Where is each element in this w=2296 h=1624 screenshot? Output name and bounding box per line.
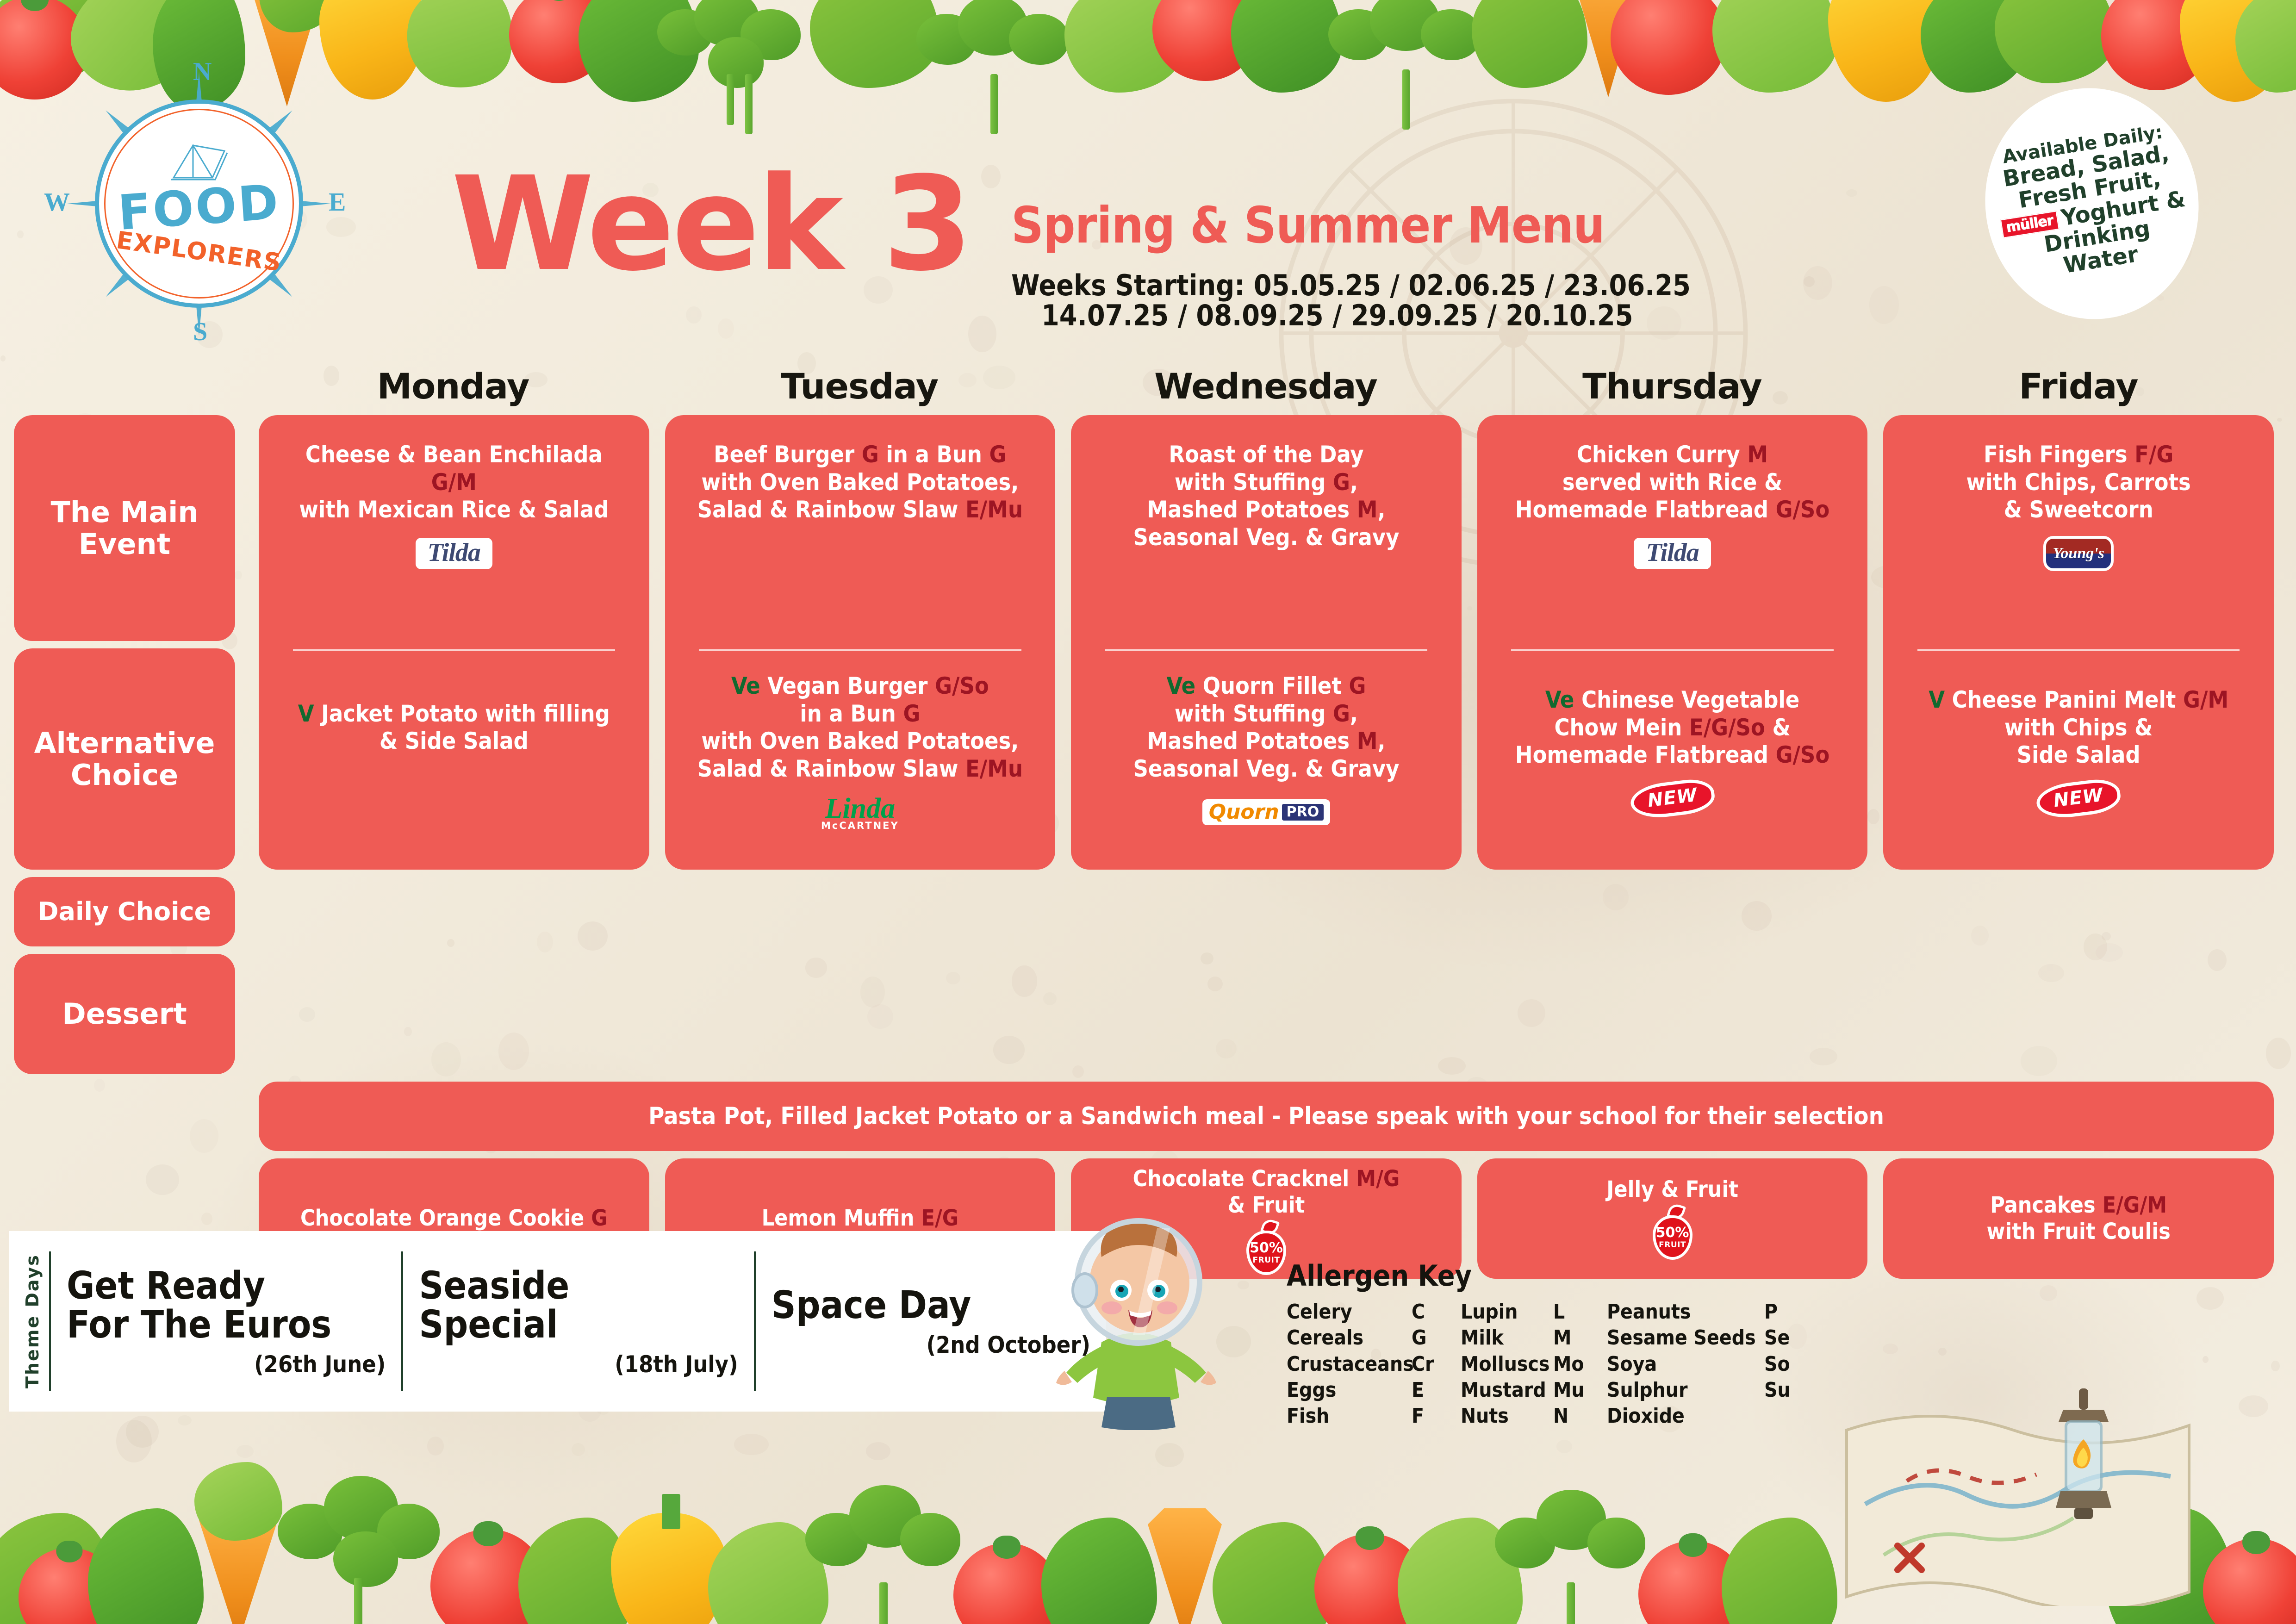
menu-card-thursday[interactable]: Chicken Curry Mserved with Rice &Homemad… [1477,415,1868,870]
day-column-wednesday: Roast of the Daywith Stuffing G,Mashed P… [1071,415,1462,1074]
allergen-name: Lupin [1461,1299,1553,1325]
main-event-cell-monday: Cheese & Bean EnchiladaG/Mwith Mexican R… [271,429,637,647]
veg-flag: V [1929,686,1952,713]
dish-line: Chocolate Orange Cookie G [300,1205,608,1232]
fruit-badge-percent: 50% [1250,1241,1283,1255]
linda-mccartney-logo: LindaMcCARTNEY [821,791,899,834]
dish-line: with Chips, Carrots [1966,469,2191,497]
paper-texture-speck [2196,1287,2224,1310]
allergen-code-key: L [1553,1299,1590,1325]
allergen-code: G [903,700,920,727]
menu-card-wednesday[interactable]: Roast of the Daywith Stuffing G,Mashed P… [1071,415,1462,870]
allergen-row: NutsN [1461,1403,1590,1429]
page-title: Week 3 [451,160,970,289]
alternative-choice-cell-thursday: Ve Chinese VegetableChow Mein E/G/So &Ho… [1489,651,1856,856]
allergen-row: Sulphur DioxideSu [1607,1377,1797,1430]
allergen-code-key: F [1412,1403,1444,1429]
allergen-code: M/G [1356,1166,1400,1192]
dish-text: , [1378,728,1386,754]
paper-texture-speck [1803,266,1832,299]
main-event-cell-thursday: Chicken Curry Mserved with Rice &Homemad… [1489,429,1856,647]
dish-text: Fish Fingers [1984,441,2134,468]
allergen-code-key: N [1553,1403,1590,1429]
menu-grid: Monday Tuesday Wednesday Thursday Friday… [14,366,2282,1279]
row-label-alternative: Alternative Choice [14,648,235,870]
dish-text: Salad & Rainbow Slaw [697,496,965,523]
allergen-code: G/So [935,672,989,699]
dish-line: Roast of the Day [1169,441,1363,469]
allergen-code-key: P [1764,1299,1797,1325]
quorn-logo-pro: PRO [1282,804,1324,821]
day-column-friday: Fish Fingers F/Gwith Chips, Carrots& Swe… [1883,415,2274,1074]
dish-line: Homemade Flatbread G/So [1515,741,1829,769]
allergen-code: G [862,441,879,468]
dish-line: with Mexican Rice & Salad [299,496,609,524]
allergen-row: Sesame SeedsSe [1607,1325,1797,1351]
compass-label-s: S [193,317,207,347]
dish-text: Chinese Vegetable [1581,686,1799,713]
dish-line: Ve Vegan Burger G/So [731,672,989,700]
veg-flag: V [298,700,321,727]
allergen-column-2: LupinLMilkMMolluscsMoMustardMuNutsN [1461,1299,1590,1430]
food-explorers-logo: N S W E FOOD EXPLORERS [95,100,303,308]
dish-text: , [1350,700,1358,727]
dish-text: served with Rice & [1562,469,1782,496]
fifty-percent-fruit-badge: 50%FRUIT [1244,1219,1289,1271]
day-header-friday: Friday [1883,366,2274,407]
dish-line: & Fruit [1228,1192,1305,1219]
paper-texture-speck [1846,189,1857,197]
allergen-code: G [1349,672,1366,699]
allergen-code: G [1333,700,1350,727]
fruit-badge-label: FRUIT [1253,1257,1280,1264]
compass-label-e: E [329,187,346,217]
fifty-percent-fruit-badge: 50%FRUIT [1650,1203,1695,1261]
quorn-logo-block: QuornPRO [1202,799,1331,825]
dish-text: in a Bun [800,700,903,727]
paper-texture-speck [866,1442,890,1460]
linda-logo-bottom: McCARTNEY [821,821,899,831]
daily-choice-row: Pasta Pot, Filled Jacket Potato or a San… [14,1082,2282,1151]
theme-days-panel: Theme Days Get ReadyFor The Euros (26th … [9,1231,1106,1412]
dish-text: with Stuffing [1175,469,1333,496]
allergen-row: MilkM [1461,1325,1590,1351]
dessert-cell-friday[interactable]: Pancakes E/G/Mwith Fruit Coulis [1883,1158,2274,1279]
allergen-key: Allergen Key CeleryCCerealsGCrustaceansC… [1287,1259,1833,1430]
allergen-name: Molluscs [1461,1351,1553,1377]
dish-text: Roast of the Day [1169,441,1363,468]
day-header-tuesday: Tuesday [664,366,1055,407]
allergen-code-key: E [1412,1377,1444,1403]
paper-texture-speck [2239,1395,2268,1417]
dish-text: with Oven Baked Potatoes, [701,728,1019,754]
dish-line: Salad & Rainbow Slaw E/Mu [697,496,1023,524]
dish-line: with Oven Baked Potatoes, [701,728,1019,755]
fruit-badge-label: FRUIT [1659,1241,1686,1249]
allergen-code: E/G [921,1205,959,1231]
paper-texture-speck [1238,1281,1249,1289]
allergen-code: M [1357,496,1378,523]
dish-text: Side Salad [2017,741,2140,768]
apple-icon: 50%FRUIT [1246,1231,1286,1275]
allergen-code: E/G/M [2103,1192,2167,1218]
dish-text: in a Bun [879,441,989,468]
paper-texture-speck [178,1415,192,1425]
paper-texture-speck [0,355,6,362]
day-header-thursday: Thursday [1477,366,1867,407]
allergen-row: CeleryC [1287,1299,1444,1325]
theme-days-vertical-label: Theme Days [16,1238,49,1405]
allergen-code-key: Se [1764,1325,1797,1351]
row-label-main-event: The Main Event [14,415,235,641]
dish-text: , [1350,469,1358,496]
dish-text: Lemon Muffin [762,1205,921,1231]
theme-day-space-date: (2nd October) [772,1332,1090,1358]
allergen-name: Fish [1287,1403,1412,1429]
dish-line: Seasonal Veg. & Gravy [1133,524,1400,552]
allergen-code: E/G/So [1689,714,1765,741]
dish-line: Homemade Flatbread G/So [1515,496,1829,524]
dish-line: Beef Burger G in a Bun G [714,441,1006,469]
allergen-code-key: Su [1764,1377,1797,1430]
allergen-column-1: CeleryCCerealsGCrustaceansCrEggsEFishF [1287,1299,1444,1430]
dish-text: Vegan Burger [767,672,935,699]
new-badge-label: NEW [1629,777,1717,821]
dish-line: Fish Fingers F/G [1984,441,2173,469]
menu-body: The Main Event Alternative Choice Daily … [14,415,2282,1074]
dish-line: G/M [431,469,477,497]
allergen-column-3: PeanutsPSesame SeedsSeSoyaSoSulphur Diox… [1607,1299,1797,1430]
day-column-tuesday: Beef Burger G in a Bun Gwith Oven Baked … [665,415,1056,1074]
allergen-name: Peanuts [1607,1299,1764,1325]
dish-text: Chocolate Orange Cookie [300,1205,591,1231]
dish-text: Homemade Flatbread [1515,741,1776,768]
dish-text: Chocolate Cracknel [1133,1166,1356,1192]
paper-texture-speck [236,1445,254,1458]
main-event-cell-friday: Fish Fingers F/Gwith Chips, Carrots& Swe… [1895,429,2262,647]
dish-text: & Sweetcorn [2004,496,2153,523]
dish-text: Beef Burger [714,441,862,468]
dish-line: Chocolate Cracknel M/G [1133,1166,1400,1192]
menu-card-tuesday[interactable]: Beef Burger G in a Bun Gwith Oven Baked … [665,415,1056,870]
theme-day-euros: Get ReadyFor The Euros (26th June) [51,1238,401,1405]
map-lantern-illustration [1833,1365,2203,1606]
dish-text: Seasonal Veg. & Gravy [1133,755,1400,782]
dish-line: with Stuffing G, [1175,469,1358,497]
paper-texture-speck [2040,1285,2057,1301]
tilda-logo-text: Tilda [416,538,492,569]
alternative-choice-cell-monday: V Jacket Potato with filling& Side Salad [271,651,637,856]
dish-line: Pancakes E/G/M [1990,1192,2167,1219]
weeks-starting-line-1: Weeks Starting: 05.05.25 / 02.06.25 / 23… [1011,268,1691,302]
tilda-logo: Tilda [1634,532,1711,575]
veg-flag: Ve [1167,672,1203,699]
paper-texture-speck [1556,1440,1572,1453]
allergen-code: G [989,441,1007,468]
paper-texture-speck [718,318,734,338]
allergen-code: E/Mu [965,755,1023,782]
dish-line: Seasonal Veg. & Gravy [1133,755,1400,783]
dish-text: Homemade Flatbread [1515,496,1776,523]
dish-text: & Side Salad [380,728,529,754]
season-subtitle: Spring & Summer Menu [1011,197,1605,255]
paper-texture-speck [2203,1356,2209,1363]
paper-texture-speck [1869,286,1899,324]
theme-day-seaside: SeasideSpecial (18th July) [403,1238,753,1405]
allergen-code: M [1357,728,1378,754]
dish-text: with Stuffing [1175,700,1333,727]
fruit-badge-percent: 50% [1656,1226,1689,1240]
dish-line: & Sweetcorn [2004,496,2153,524]
allergen-code-key: G [1412,1325,1444,1351]
allergen-code-key: M [1553,1325,1590,1351]
weeks-starting-line-2: 14.07.25 / 08.09.25 / 29.09.25 / 20.10.2… [1041,299,1633,332]
allergen-row: MolluscsMo [1461,1351,1590,1377]
dish-line: Chow Mein E/G/So & [1554,714,1790,742]
dish-line: Ve Chinese Vegetable [1545,686,1800,714]
dish-line: Salad & Rainbow Slaw E/Mu [697,755,1023,783]
dish-text: Quorn Fillet [1203,672,1349,699]
allergen-code: F/G [2134,441,2173,468]
allergen-name: Nuts [1461,1403,1553,1429]
day-column-thursday: Chicken Curry Mserved with Rice &Homemad… [1477,415,1868,1074]
dish-text: Seasonal Veg. & Gravy [1133,524,1400,551]
allergen-code-key: Cr [1412,1351,1444,1377]
dish-text: Jelly & Fruit [1606,1176,1738,1202]
allergen-code: G/M [2183,686,2228,713]
allergen-row: PeanutsP [1607,1299,1797,1325]
allergen-name: Sesame Seeds [1607,1325,1764,1351]
dish-line: served with Rice & [1562,469,1782,497]
theme-day-euros-name: Get ReadyFor The Euros [67,1267,386,1344]
paper-texture-speck [1938,1348,1947,1356]
main-event-cell-tuesday: Beef Burger G in a Bun Gwith Oven Baked … [677,429,1044,647]
dish-line: Lemon Muffin E/G [762,1205,959,1232]
allergen-code: G/M [431,469,477,496]
allergen-code: G/So [1776,741,1830,768]
tilda-logo: Tilda [416,532,492,575]
dish-text: Mashed Potatoes [1147,496,1356,523]
dish-text: Cheese & Bean Enchilada [305,441,603,468]
allergen-row: EggsE [1287,1377,1444,1403]
allergen-row: SoyaSo [1607,1351,1797,1377]
allergen-code-key: Mo [1553,1351,1590,1377]
dish-text: with Chips & [2004,714,2153,741]
dish-text: Chicken Curry [1577,441,1747,468]
allergen-row: FishF [1287,1403,1444,1429]
youngs-logo: Young's [2043,532,2114,575]
paper-texture-speck [981,165,1001,189]
dish-line: V Jacket Potato with filling [298,700,610,728]
dish-line: & Side Salad [380,728,529,755]
alternative-choice-cell-wednesday: Ve Quorn Fillet Gwith Stuffing G,Mashed … [1083,651,1450,856]
theme-day-seaside-name: SeasideSpecial [419,1267,738,1344]
dish-text: Jacket Potato with filling [321,700,610,727]
day-header-row: Monday Tuesday Wednesday Thursday Friday [14,366,2282,407]
linda-logo-block: LindaMcCARTNEY [821,794,899,831]
row-label-daily-choice: Daily Choice [14,877,235,946]
alternative-choice-cell-friday: V Cheese Panini Melt G/Mwith Chips &Side… [1895,651,2262,856]
dish-text: & Fruit [1228,1192,1305,1218]
allergen-code: G [1333,469,1350,496]
dish-line: with Chips & [2004,714,2153,742]
allergen-row: MustardMu [1461,1377,1590,1403]
allergen-name: Eggs [1287,1377,1412,1403]
allergen-name: Crustaceans [1287,1351,1412,1377]
dish-text: with Mexican Rice & Salad [299,496,609,523]
allergen-name: Cereals [1287,1325,1412,1351]
dish-line: Chicken Curry M [1577,441,1768,469]
main-event-cell-wednesday: Roast of the Daywith Stuffing G,Mashed P… [1083,429,1450,647]
dish-text: , [1378,496,1386,523]
paper-texture-speck [1155,1443,1184,1468]
allergen-name: Sulphur Dioxide [1607,1377,1764,1430]
quorn-pro-logo: QuornPRO [1202,791,1331,834]
paper-texture-speck [116,1420,152,1462]
dish-text: with Chips, Carrots [1966,469,2191,496]
dish-line: Mashed Potatoes M, [1147,496,1385,524]
allergen-code-key: C [1412,1299,1444,1325]
paper-texture-speck [1883,1344,1898,1354]
paper-texture-speck [686,306,701,324]
paper-texture-speck [572,1443,585,1456]
allergen-code-key: Mu [1553,1377,1590,1403]
dish-line: Ve Quorn Fillet G [1167,672,1366,700]
apple-icon: 50%FRUIT [1653,1215,1692,1260]
dish-line: with Oven Baked Potatoes, [701,469,1019,497]
youngs-logo-badge: Young's [2043,536,2114,571]
theme-day-euros-date: (26th June) [67,1351,386,1378]
allergen-code: G [591,1205,607,1231]
dish-line: Side Salad [2017,741,2140,769]
allergen-name: Celery [1287,1299,1412,1325]
day-header-monday: Monday [258,366,648,407]
veg-flag: Ve [1545,686,1581,713]
paper-texture-speck [2271,1361,2280,1372]
veg-flag: Ve [731,672,767,699]
tent-icon [164,139,234,183]
paper-texture-speck [734,1434,769,1455]
quorn-logo-word: Quorn [1209,802,1279,822]
allergen-code: M [1747,441,1768,468]
allergen-name: Soya [1607,1351,1764,1377]
paper-texture-speck [1647,306,1681,340]
row-label-dessert: Dessert [14,954,235,1074]
dish-text: Chow Mein [1554,714,1689,741]
dish-text: Cheese Panini Melt [1952,686,2183,713]
dish-line: V Cheese Panini Melt G/M [1929,686,2228,714]
daily-choice-bar: Pasta Pot, Filled Jacket Potato or a San… [259,1082,2274,1151]
allergen-code-key: So [1764,1351,1797,1377]
youngs-logo-text: Young's [2053,545,2104,562]
paper-texture-speck [17,230,24,238]
dish-line: in a Bun G [800,700,920,728]
dish-line: Jelly & Fruit [1606,1176,1738,1203]
dish-text: & [1765,714,1791,741]
allergen-name: Milk [1461,1325,1553,1351]
allergen-key-title: Allergen Key [1287,1259,1833,1293]
dish-text: Mashed Potatoes [1147,728,1356,754]
dish-line: with Fruit Coulis [1986,1219,2170,1245]
dish-line: Cheese & Bean Enchilada [305,441,603,469]
compass-label-n: N [193,57,212,87]
compass-label-w: W [44,187,70,217]
paper-texture-speck [427,1437,444,1456]
allergen-row: LupinL [1461,1299,1590,1325]
new-badge-label: NEW [2035,777,2122,821]
logo-text-food: FOOD [117,178,282,237]
new-badge: NEW [2036,778,2121,820]
astronaut-mascot-icon [1051,1213,1222,1430]
paper-texture-speck [968,316,996,352]
row-label-column: The Main Event Alternative Choice Daily … [14,415,235,1074]
day-columns: Cheese & Bean EnchiladaG/Mwith Mexican R… [251,415,2282,1074]
theme-day-seaside-date: (18th July) [419,1351,738,1378]
dish-text: with Fruit Coulis [1986,1219,2170,1244]
allergen-row: CerealsG [1287,1325,1444,1351]
new-badge: NEW [1630,778,1715,820]
theme-day-space-name: Space Day [772,1286,1090,1325]
allergen-code: G/So [1776,496,1830,523]
menu-card-friday[interactable]: Fish Fingers F/Gwith Chips, Carrots& Swe… [1883,415,2274,870]
dish-text: Pancakes [1990,1192,2102,1218]
dish-text: with Oven Baked Potatoes, [701,469,1019,496]
dish-line: with Stuffing G, [1175,700,1358,728]
menu-card-monday[interactable]: Cheese & Bean EnchiladaG/Mwith Mexican R… [259,415,649,870]
allergen-name: Mustard [1461,1377,1553,1403]
alternative-choice-cell-tuesday: Ve Vegan Burger G/Soin a Bun Gwith Oven … [677,651,1044,856]
dish-text: Salad & Rainbow Slaw [697,755,965,782]
logo-badge: FOOD EXPLORERS [95,100,303,308]
tilda-logo-text: Tilda [1634,538,1711,569]
dish-line: Mashed Potatoes M, [1147,728,1385,755]
day-header-wednesday: Wednesday [1070,366,1461,407]
allergen-code: E/Mu [965,496,1023,523]
allergen-row: CrustaceansCr [1287,1351,1444,1377]
day-column-monday: Cheese & Bean EnchiladaG/Mwith Mexican R… [259,415,649,1074]
linda-logo-top: Linda [821,794,899,823]
